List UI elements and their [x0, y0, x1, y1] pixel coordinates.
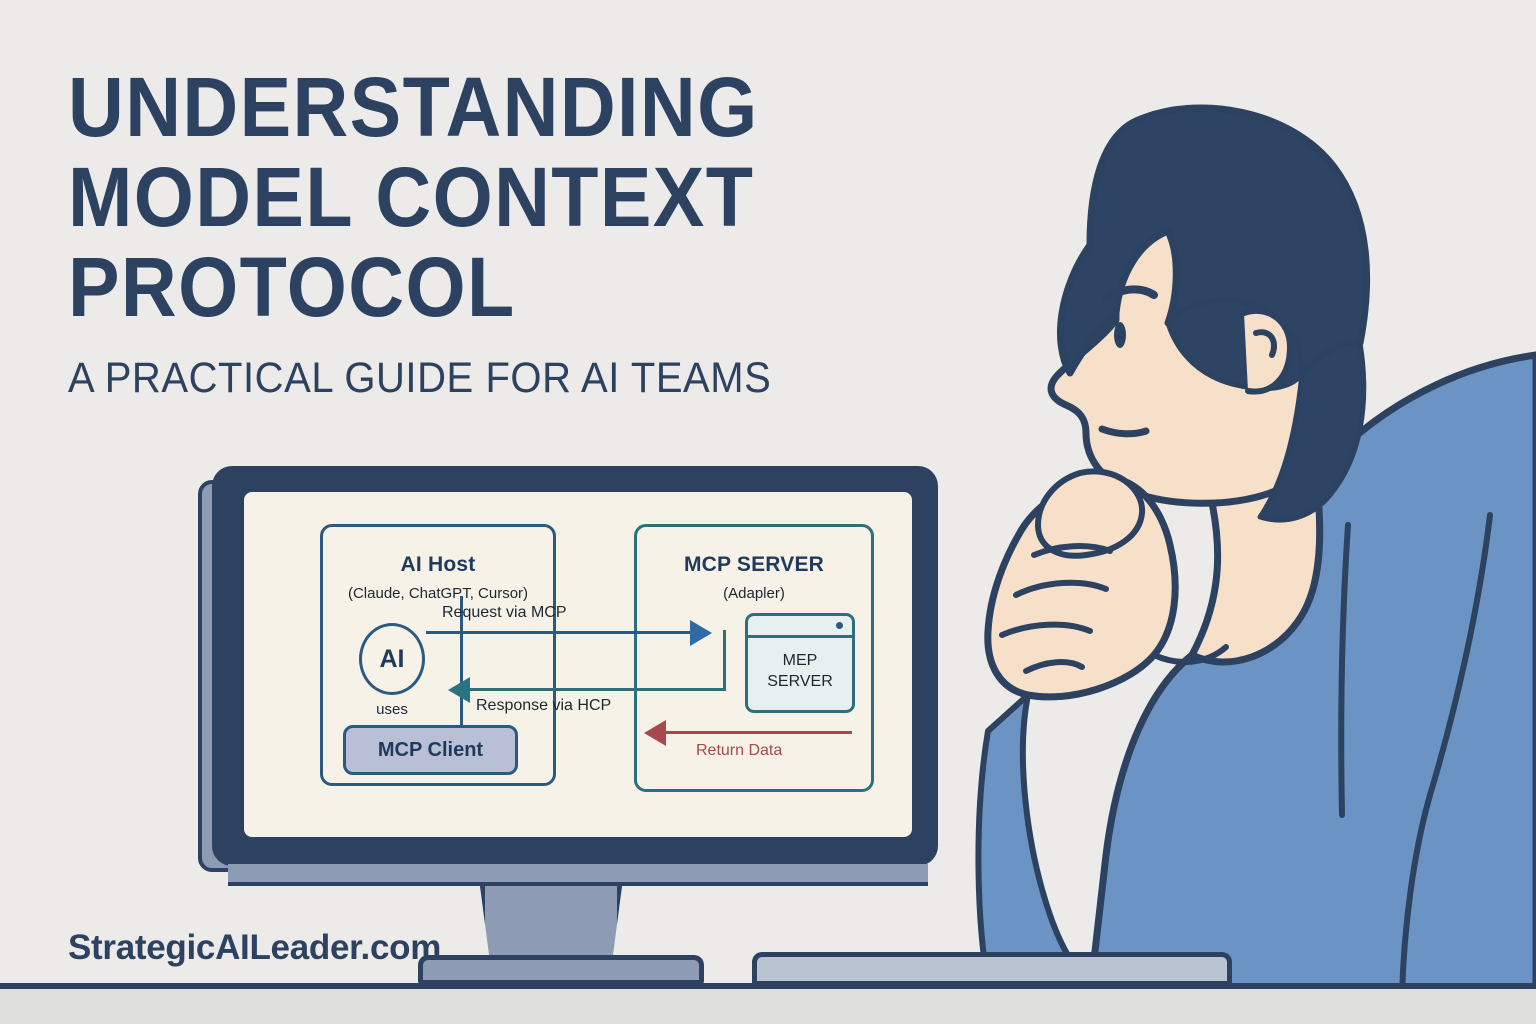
headline-block: UNDERSTANDING MODEL CONTEXT PROTOCOL A P… — [68, 62, 898, 402]
request-arrowhead-icon — [690, 620, 712, 646]
window-dot-icon — [836, 622, 843, 629]
monitor-stand-base — [418, 955, 704, 985]
uses-label: uses — [359, 701, 425, 718]
ai-circle-icon: AI — [359, 623, 425, 695]
ai-host-title: AI Host — [323, 553, 553, 577]
monitor-screen: AI Host (Claude, ChatGPT, Cursor) AI use… — [244, 492, 912, 837]
ai-host-box: AI Host (Claude, ChatGPT, Cursor) AI use… — [320, 524, 556, 786]
monitor-stand-neck — [480, 886, 622, 962]
title-line-1: UNDERSTANDING — [68, 62, 832, 152]
mcp-client-node: MCP Client — [343, 725, 518, 775]
footer-url[interactable]: StrategicAILeader.com — [68, 928, 441, 968]
sleeve — [978, 695, 1106, 995]
window-titlebar — [748, 616, 852, 638]
mcp-architecture-diagram: AI Host (Claude, ChatGPT, Cursor) AI use… — [244, 492, 912, 837]
return-data-arrow-label: Return Data — [696, 742, 782, 760]
mep-server-label-line2: SERVER — [767, 673, 833, 690]
request-arrow-line — [426, 631, 692, 634]
title-line-2: MODEL CONTEXT — [68, 152, 832, 242]
title-line-3: PROTOCOL — [68, 242, 832, 332]
index-finger — [1038, 471, 1142, 555]
mcp-server-subtitle: (Adapler) — [637, 585, 871, 602]
keyboard — [752, 952, 1232, 986]
subtitle: A PRACTICAL GUIDE FOR AI TEAMS — [68, 354, 840, 402]
response-arrow-riser — [723, 630, 726, 688]
mep-server-label-line1: MEP — [783, 652, 818, 669]
return-data-arrowhead-icon — [644, 720, 666, 746]
mep-server-label: MEP SERVER — [748, 650, 852, 692]
response-arrow-line — [470, 688, 726, 691]
response-arrow-label: Response via HCP — [476, 697, 611, 715]
server-window-icon: MEP SERVER — [745, 613, 855, 713]
monitor: AI Host (Claude, ChatGPT, Cursor) AI use… — [198, 466, 938, 886]
request-arrow-label: Request via MCP — [442, 604, 567, 622]
response-arrowhead-icon — [448, 677, 470, 703]
mcp-server-title: MCP SERVER — [637, 553, 871, 577]
person-illustration — [930, 55, 1536, 995]
ear — [1244, 311, 1290, 392]
return-data-arrow-line — [666, 731, 852, 734]
monitor-chin — [228, 864, 928, 886]
desk-surface — [0, 989, 1536, 1024]
eye — [1114, 322, 1126, 348]
ai-host-subtitle: (Claude, ChatGPT, Cursor) — [323, 585, 553, 602]
poster-canvas: UNDERSTANDING MODEL CONTEXT PROTOCOL A P… — [0, 0, 1536, 1024]
